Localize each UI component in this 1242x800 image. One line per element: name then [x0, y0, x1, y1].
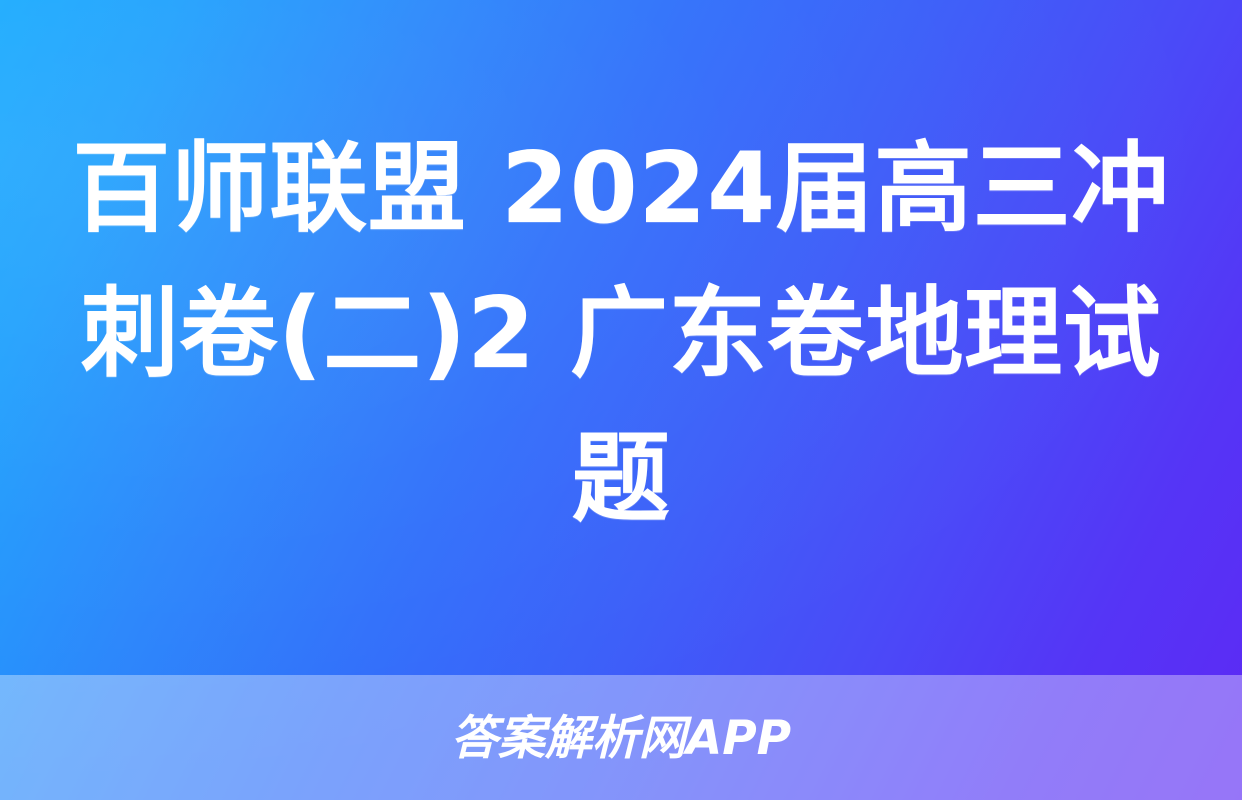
title-area: 百师联盟 2024届高三冲刺卷(二)2 广东卷地理试题 [0, 0, 1242, 675]
page-title: 百师联盟 2024届高三冲刺卷(二)2 广东卷地理试题 [72, 117, 1170, 552]
cover-card: 百师联盟 2024届高三冲刺卷(二)2 广东卷地理试题 答案解析网APP [0, 0, 1242, 800]
app-brand-label: 答案解析网APP [451, 714, 791, 764]
footer-brand-band: 答案解析网APP [0, 675, 1242, 800]
